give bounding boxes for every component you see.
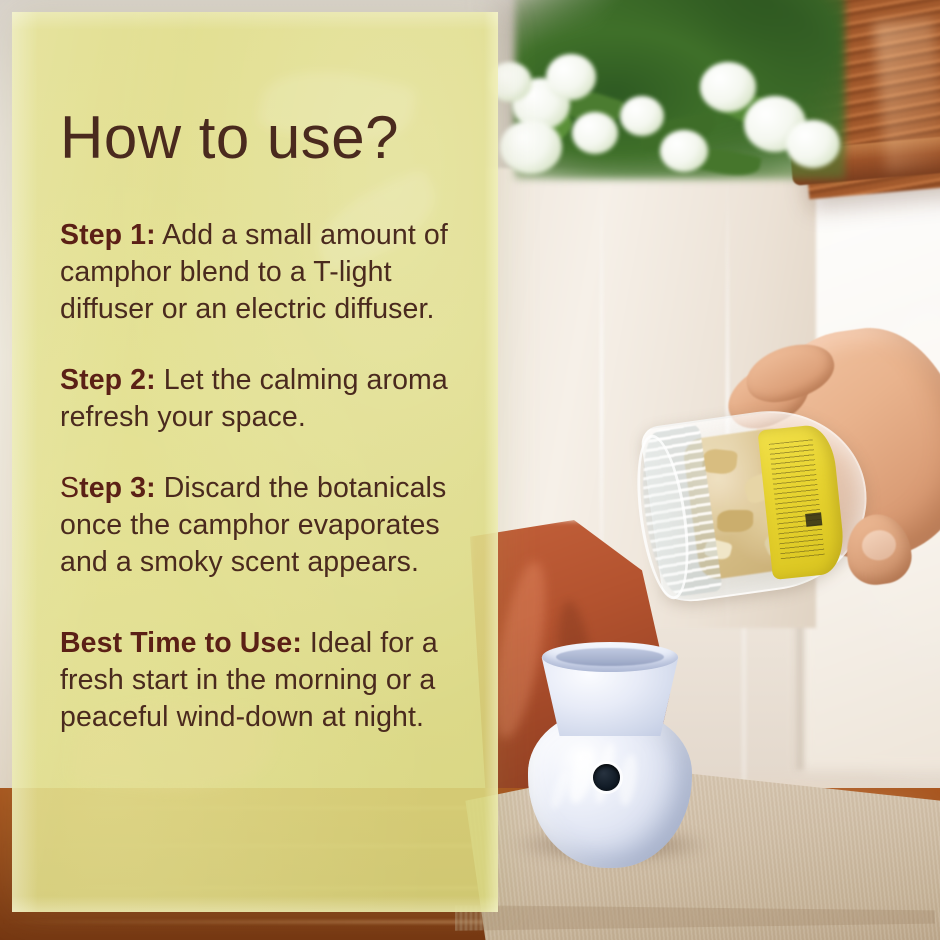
panel-edge-left [12,12,38,912]
step-label-3-lead: S [60,472,79,504]
white-flower [572,112,618,154]
white-flower [786,120,840,168]
step-label-2: Step 2: [60,364,156,396]
steps-list: Step 1: Add a small amount of camphor bl… [60,217,476,737]
panel-edge-top [12,12,498,30]
burner-air-hole [593,764,620,791]
step-label-1: Step 1: [60,219,156,251]
white-flower [700,62,756,112]
white-flower [546,54,596,100]
panel-edge-right [484,12,498,912]
jar-label-mark [805,512,822,527]
step-item-1: Step 1: Add a small amount of camphor bl… [60,217,476,328]
white-flower [660,130,708,172]
white-flower [500,120,562,174]
instructions-panel: How to use? Step 1: Add a small amount o… [12,12,498,912]
hand-holding-jar [621,311,940,650]
white-flower [620,96,664,136]
panel-edge-bottom [12,896,498,912]
best-time-label: Best Time to Use: [60,627,302,659]
botanical-chip [717,510,753,532]
page-title: How to use? [60,108,399,168]
ceramic-oil-burner [520,638,700,868]
burner-rim-inner [556,648,664,666]
infographic-canvas: How to use? Step 1: Add a small amount o… [0,0,940,940]
step-item-2: Step 2: Let the calming aroma refresh yo… [60,362,476,436]
best-time-item: Best Time to Use: Ideal for a fresh star… [60,625,476,736]
step-item-3: Step 3: Discard the botanicals once the … [60,470,476,581]
step-label-3: tep 3: [79,472,156,504]
